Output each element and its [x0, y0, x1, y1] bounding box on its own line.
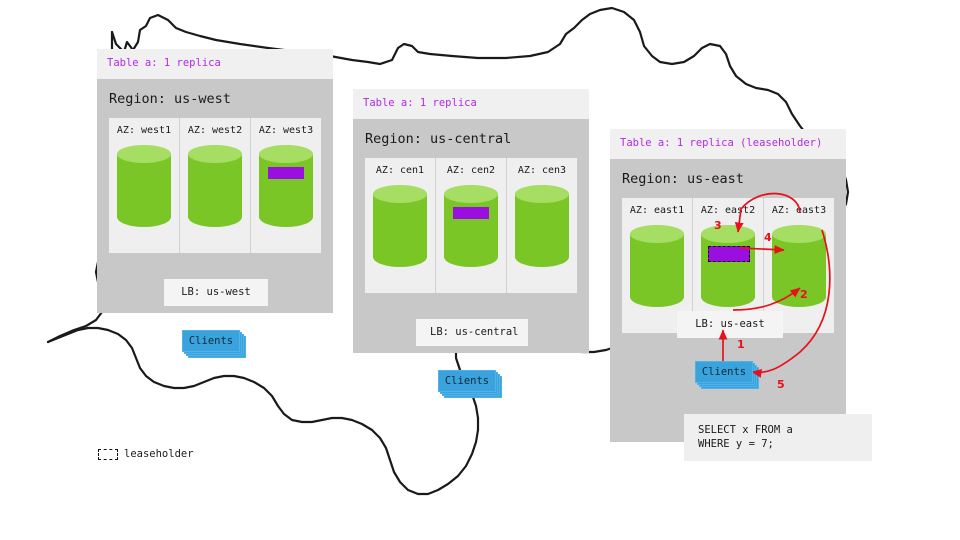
clients-label[interactable]: Clients: [695, 361, 753, 383]
panel-title-us-east: Table a: 1 replica (leaseholder): [610, 129, 846, 159]
step-number-1: 1: [737, 338, 745, 351]
dashed-rectangle-icon: [98, 449, 118, 460]
cylinder-top: [188, 145, 242, 163]
replica-box-west3: [268, 167, 304, 179]
az-label-west2: AZ: west2: [180, 125, 250, 136]
region-body-us-west: Region: us-west AZ: west1 AZ: west2: [97, 79, 333, 313]
cylinder-west2[interactable]: [188, 145, 242, 227]
legend-label: leaseholder: [124, 448, 194, 460]
cylinder-east2[interactable]: [701, 225, 755, 307]
lb-box-us-central[interactable]: LB: us-central: [416, 319, 528, 346]
cylinder-cen1[interactable]: [373, 185, 427, 267]
leaseholder-box-east2: [708, 246, 750, 262]
cylinder-cen2[interactable]: [444, 185, 498, 267]
panel-title-us-central: Table a: 1 replica: [353, 89, 589, 119]
cylinder-body: [515, 194, 569, 267]
cylinder-west1[interactable]: [117, 145, 171, 227]
cylinder-body: [373, 194, 427, 267]
az-cell-west2[interactable]: AZ: west2: [180, 118, 251, 253]
cylinder-body: [630, 234, 684, 307]
cylinder-top: [701, 225, 755, 243]
cylinder-top: [630, 225, 684, 243]
region-panel-us-east: Table a: 1 replica (leaseholder) Region:…: [610, 129, 846, 442]
diagram-canvas: Table a: 1 replica Region: us-west AZ: w…: [0, 0, 960, 540]
region-label-us-central: Region: us-central: [353, 119, 589, 158]
az-label-east1: AZ: east1: [622, 205, 692, 216]
az-cell-west3[interactable]: AZ: west3: [251, 118, 321, 253]
cylinder-top: [444, 185, 498, 203]
region-panel-us-west: Table a: 1 replica Region: us-west AZ: w…: [97, 49, 333, 313]
clients-label[interactable]: Clients: [182, 330, 240, 352]
az-cell-cen2[interactable]: AZ: cen2: [436, 158, 507, 293]
az-cell-cen3[interactable]: AZ: cen3: [507, 158, 577, 293]
lb-box-us-east[interactable]: LB: us-east: [677, 311, 783, 338]
clients-stack-us-east[interactable]: Clients: [695, 361, 759, 387]
az-row-us-central: AZ: cen1 AZ: cen2 AZ: cen3: [365, 158, 577, 293]
cylinder-east1[interactable]: [630, 225, 684, 307]
az-cell-cen1[interactable]: AZ: cen1: [365, 158, 436, 293]
region-label-us-west: Region: us-west: [97, 79, 333, 118]
az-label-east3: AZ: east3: [764, 205, 834, 216]
az-label-cen2: AZ: cen2: [436, 165, 506, 176]
cylinder-west3[interactable]: [259, 145, 313, 227]
lb-box-us-west[interactable]: LB: us-west: [164, 279, 268, 306]
sql-query-box: SELECT x FROM a WHERE y = 7;: [684, 414, 872, 461]
cylinder-body: [772, 234, 826, 307]
cylinder-body: [117, 154, 171, 227]
step-number-5: 5: [777, 378, 785, 391]
region-body-us-central: Region: us-central AZ: cen1 AZ: cen2: [353, 119, 589, 353]
cylinder-top: [373, 185, 427, 203]
cylinder-body: [188, 154, 242, 227]
az-row-us-west: AZ: west1 AZ: west2 AZ: west3: [109, 118, 321, 253]
cylinder-top: [117, 145, 171, 163]
cylinder-top: [772, 225, 826, 243]
legend-leaseholder: leaseholder: [98, 448, 194, 460]
region-panel-us-central: Table a: 1 replica Region: us-central AZ…: [353, 89, 589, 353]
az-label-west3: AZ: west3: [251, 125, 321, 136]
cylinder-body: [259, 154, 313, 227]
cylinder-top: [259, 145, 313, 163]
step-number-2: 2: [800, 288, 808, 301]
panel-title-us-west: Table a: 1 replica: [97, 49, 333, 79]
cylinder-east3[interactable]: [772, 225, 826, 307]
region-label-us-east: Region: us-east: [610, 159, 846, 198]
cylinder-cen3[interactable]: [515, 185, 569, 267]
replica-box-cen2: [453, 207, 489, 219]
cylinder-body: [444, 194, 498, 267]
az-label-west1: AZ: west1: [109, 125, 179, 136]
step-number-3: 3: [714, 219, 722, 232]
az-label-cen3: AZ: cen3: [507, 165, 577, 176]
az-cell-west1[interactable]: AZ: west1: [109, 118, 180, 253]
clients-stack-us-central[interactable]: Clients: [438, 370, 502, 396]
clients-label[interactable]: Clients: [438, 370, 496, 392]
region-body-us-east: Region: us-east AZ: east1 AZ: east2: [610, 159, 846, 442]
cylinder-body: [701, 234, 755, 307]
step-number-4: 4: [764, 231, 772, 244]
az-label-east2: AZ: east2: [693, 205, 763, 216]
clients-stack-us-west[interactable]: Clients: [182, 330, 246, 356]
az-label-cen1: AZ: cen1: [365, 165, 435, 176]
cylinder-top: [515, 185, 569, 203]
